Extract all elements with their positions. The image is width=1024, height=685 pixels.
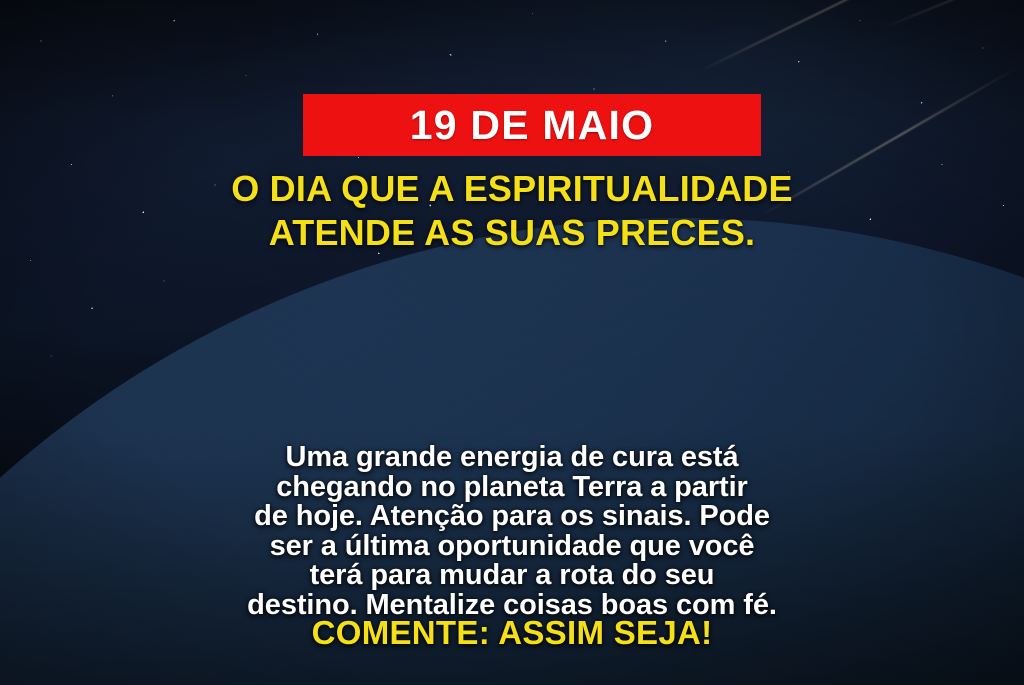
body-line-5: terá para mudar a rota do seu <box>60 561 964 591</box>
date-banner: 19 DE MAIO <box>303 94 761 156</box>
poster-canvas: 19 DE MAIO O DIA QUE A ESPIRITUALIDADE A… <box>0 0 1024 685</box>
body-line-1: Uma grande energia de cura está <box>60 443 964 473</box>
headline-line-1: O DIA QUE A ESPIRITUALIDADE <box>40 167 984 211</box>
call-to-action-text: COMENTE: ASSIM SEJA! <box>0 615 1024 651</box>
body-line-3: de hoje. Atenção para os sinais. Pode <box>60 502 964 532</box>
body-line-4: ser a última oportunidade que você <box>60 532 964 562</box>
poster-content: 19 DE MAIO O DIA QUE A ESPIRITUALIDADE A… <box>0 0 1024 685</box>
headline-line-2: ATENDE AS SUAS PRECES. <box>40 211 984 255</box>
headline: O DIA QUE A ESPIRITUALIDADE ATENDE AS SU… <box>0 167 1024 255</box>
date-banner-label: 19 DE MAIO <box>410 105 654 146</box>
body-copy: Uma grande energia de cura está chegando… <box>60 443 964 620</box>
body-line-2: chegando no planeta Terra a partir <box>60 473 964 503</box>
